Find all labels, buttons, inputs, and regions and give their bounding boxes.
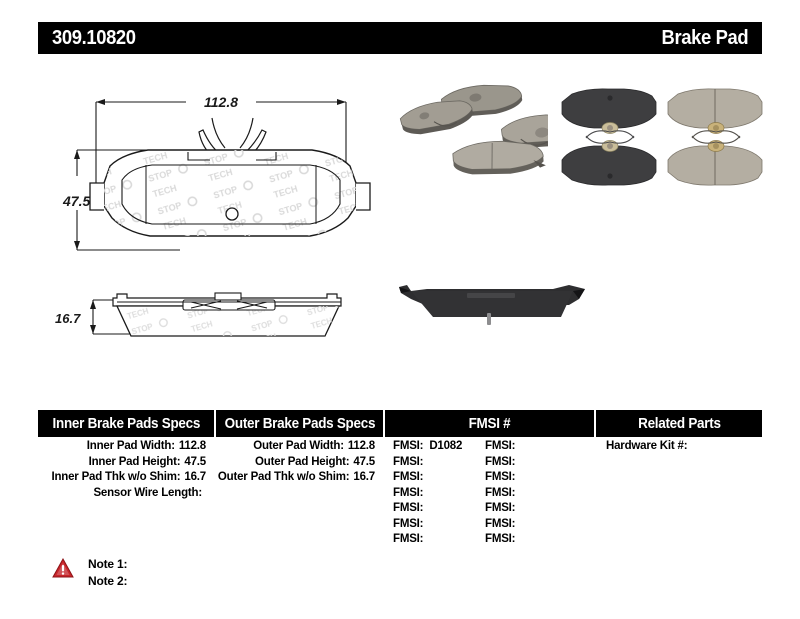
spec-row: Outer Pad Thk w/o Shim: 16.7	[216, 470, 383, 486]
outer-specs-body: Outer Pad Width: 112.8 Outer Pad Height:…	[216, 439, 383, 486]
part-number: 309.10820	[52, 27, 136, 50]
fmsi-row: FMSI:	[393, 455, 485, 471]
column-header-fmsi: FMSI #	[385, 410, 594, 437]
fmsi-row: FMSI:	[485, 486, 577, 502]
spec-label: Outer Pad Thk w/o Shim:	[218, 470, 350, 486]
spec-row: Sensor Wire Length:	[38, 486, 214, 502]
column-header-inner-specs-label: Inner Brake Pads Specs	[52, 416, 200, 432]
fmsi-row: FMSI:	[393, 532, 485, 548]
inner-specs-body: Inner Pad Width: 112.8 Inner Pad Height:…	[38, 439, 214, 501]
svg-text:47.5: 47.5	[62, 193, 90, 209]
spec-row: Inner Pad Thk w/o Shim: 16.7	[38, 470, 214, 486]
specifications-table: Inner Brake Pads Specs Outer Brake Pads …	[38, 410, 762, 560]
table-header-row: Inner Brake Pads Specs Outer Brake Pads …	[38, 410, 762, 437]
fmsi-row: FMSI:	[485, 532, 577, 548]
spec-label: Outer Pad Height:	[255, 455, 349, 471]
column-header-inner-specs: Inner Brake Pads Specs	[38, 410, 214, 437]
spec-label: Inner Pad Width:	[87, 439, 175, 455]
fmsi-label: FMSI:	[393, 439, 423, 455]
column-header-fmsi-label: FMSI #	[469, 416, 511, 432]
fmsi-row: FMSI:	[393, 470, 485, 486]
fmsi-label: FMSI:	[485, 455, 515, 471]
fmsi-label: FMSI:	[485, 439, 515, 455]
related-part-row: Hardware Kit #:	[596, 439, 762, 455]
notes-list: Note 1: Note 2:	[88, 556, 127, 590]
thickness-dimension-label: 16.7	[55, 311, 81, 326]
spec-label: Inner Pad Thk w/o Shim:	[51, 470, 180, 486]
front-view-drawing: STOP TECH 112.8	[60, 88, 400, 283]
spec-label: Inner Pad Height:	[89, 455, 181, 471]
spec-row: Outer Pad Width: 112.8	[216, 439, 383, 455]
fmsi-label: FMSI:	[393, 501, 423, 517]
spec-row: Inner Pad Height: 47.5	[38, 455, 214, 471]
note-row: Note 1:	[88, 556, 127, 573]
spec-value: 112.8	[348, 439, 375, 455]
fmsi-row: FMSI:	[485, 455, 577, 471]
fmsi-label: FMSI:	[393, 455, 423, 471]
note-label: Note 1:	[88, 557, 127, 571]
spec-label: Outer Pad Width:	[253, 439, 344, 455]
fmsi-label: FMSI:	[393, 486, 423, 502]
warning-triangle-icon	[52, 558, 74, 578]
fmsi-row: FMSI:	[393, 486, 485, 502]
fmsi-label: FMSI:	[393, 470, 423, 486]
notes-block: Note 1: Note 2:	[52, 556, 127, 590]
fmsi-row: FMSI:	[393, 501, 485, 517]
fmsi-row: FMSI: D1082	[393, 439, 485, 455]
related-parts-body: Hardware Kit #:	[596, 439, 762, 455]
fmsi-value: D1082	[429, 439, 462, 455]
product-photo-side-profile	[393, 265, 593, 337]
spec-value: 47.5	[184, 455, 206, 471]
product-type-label: Brake Pad	[661, 27, 748, 50]
related-part-label: Hardware Kit #:	[606, 440, 687, 452]
note-label: Note 2:	[88, 574, 127, 588]
fmsi-column-left: FMSI: D1082 FMSI: FMSI: FMSI: FMSI:	[393, 439, 485, 548]
fmsi-row: FMSI:	[485, 517, 577, 533]
spec-value: 16.7	[353, 470, 375, 486]
fmsi-label: FMSI:	[393, 517, 423, 533]
side-view-drawing: STOP TECH 16.7	[55, 282, 400, 354]
fmsi-row: FMSI:	[485, 439, 577, 455]
fmsi-row: FMSI:	[485, 470, 577, 486]
column-header-outer-specs-label: Outer Brake Pads Specs	[224, 416, 375, 432]
spec-row: Outer Pad Height: 47.5	[216, 455, 383, 471]
spec-value: 16.7	[184, 470, 206, 486]
fmsi-row: FMSI:	[485, 501, 577, 517]
spec-row: Inner Pad Width: 112.8	[38, 439, 214, 455]
fmsi-column-right: FMSI: FMSI: FMSI: FMSI: FMSI:	[485, 439, 577, 548]
column-header-outer-specs: Outer Brake Pads Specs	[216, 410, 383, 437]
fmsi-label: FMSI:	[485, 532, 515, 548]
column-header-related-parts: Related Parts	[596, 410, 762, 437]
fmsi-label: FMSI:	[485, 517, 515, 533]
spec-value: 47.5	[353, 455, 375, 471]
fmsi-label: FMSI:	[485, 501, 515, 517]
fmsi-body: FMSI: D1082 FMSI: FMSI: FMSI: FMSI:	[385, 439, 594, 548]
figure-stage: STOP TECH 112.8	[0, 60, 800, 390]
product-photo-pad-grid	[548, 74, 768, 199]
fmsi-label: FMSI:	[393, 532, 423, 548]
spec-label: Sensor Wire Length:	[93, 486, 202, 502]
width-dimension-label: 112.8	[204, 94, 238, 110]
column-header-related-parts-label: Related Parts	[638, 416, 721, 432]
title-bar: 309.10820 Brake Pad	[38, 22, 762, 54]
fmsi-label: FMSI:	[485, 486, 515, 502]
note-row: Note 2:	[88, 573, 127, 590]
fmsi-row: FMSI:	[393, 517, 485, 533]
fmsi-label: FMSI:	[485, 470, 515, 486]
spec-value: 112.8	[179, 439, 206, 455]
